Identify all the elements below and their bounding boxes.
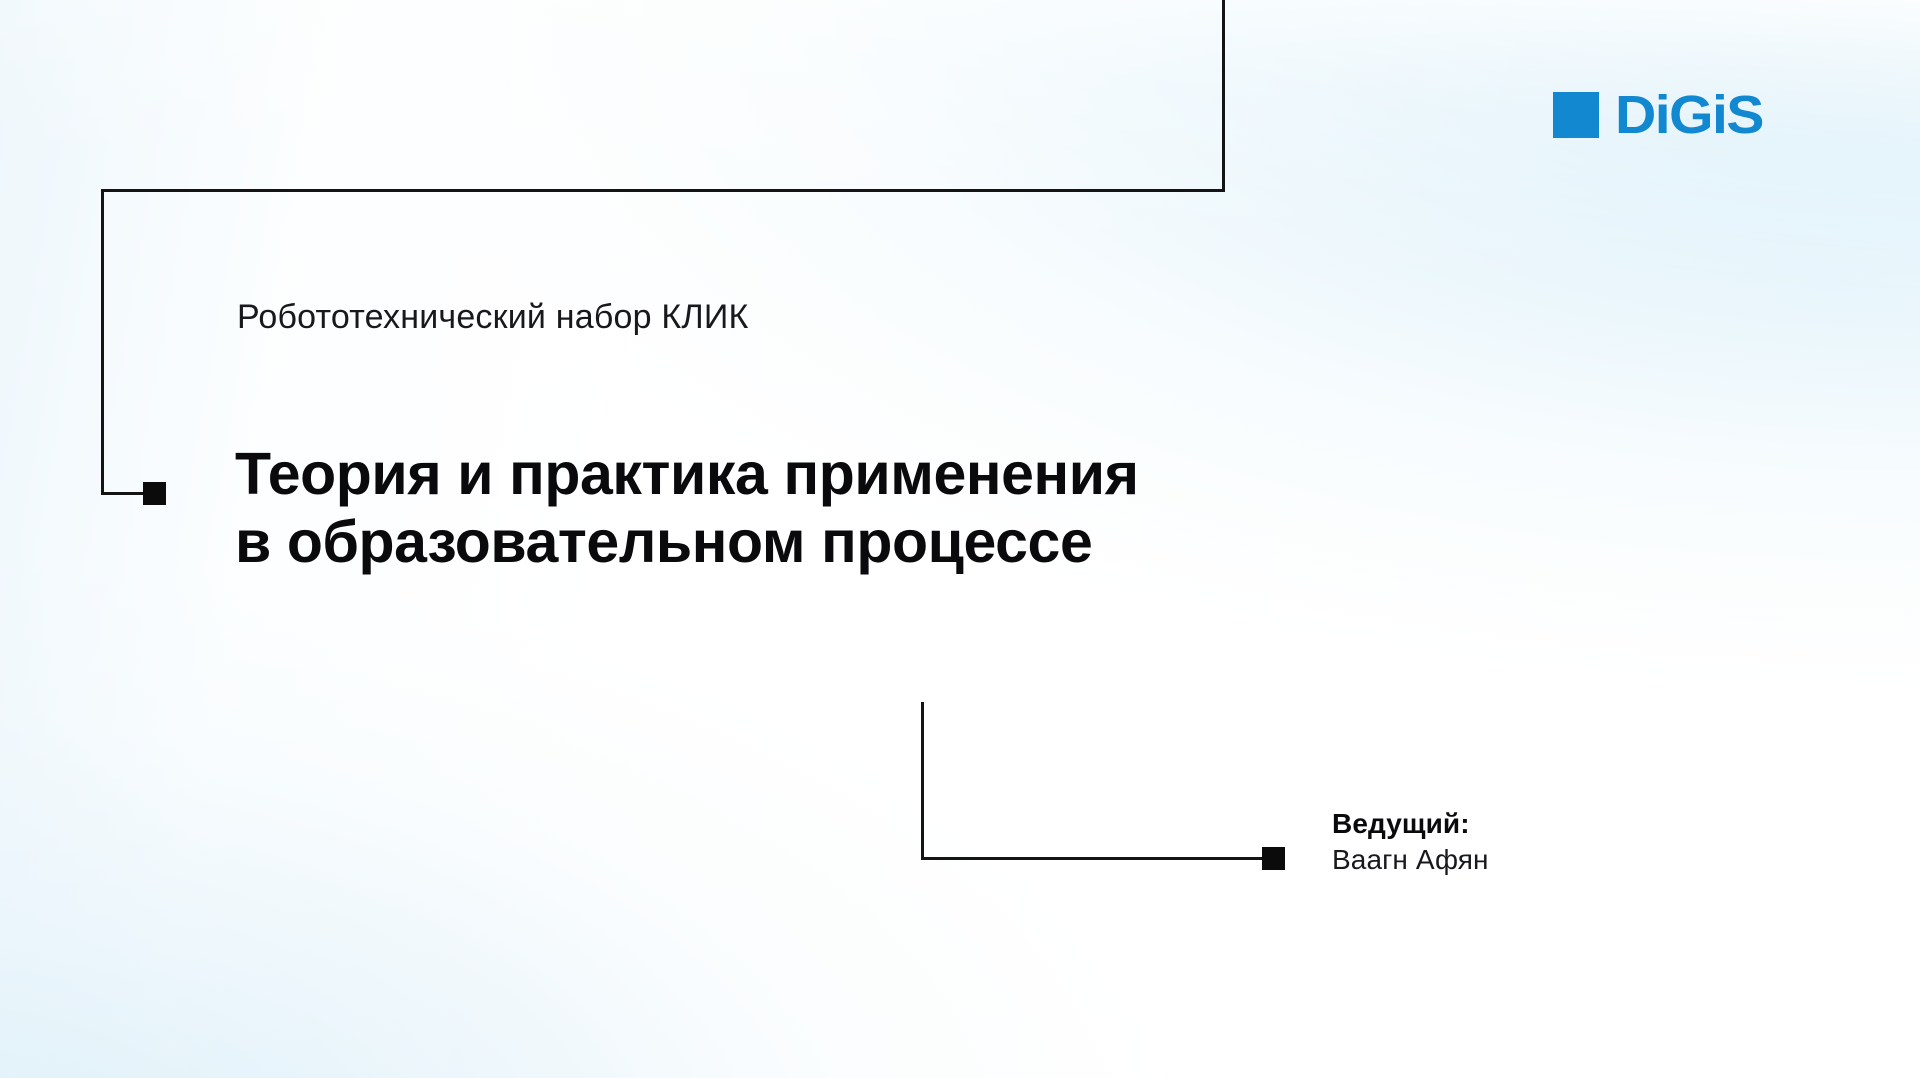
presenter-block: Ведущий: Ваагн Афян [1332,806,1489,878]
logo-square-icon [1553,92,1599,138]
slide-eyebrow: Робототехнический набор КЛИК [237,298,749,337]
digis-logo: DiGiS [1553,92,1755,138]
title-slide: DiGiS Робототехнический набор КЛИК Теори… [0,0,1920,1078]
decor-line-bottom-vertical [921,702,924,860]
decor-line-top-horizontal [101,189,1225,192]
presenter-label: Ведущий: [1332,806,1489,842]
decor-line-top-vertical [1222,0,1225,192]
decor-line-left-vertical [101,189,104,495]
logo-wordmark: DiGiS [1615,92,1763,138]
decor-square-left [143,482,166,505]
presenter-name: Ваагн Афян [1332,842,1489,878]
decor-square-bottom [1262,847,1285,870]
page-title: Теория и практика применения в образоват… [235,440,1139,577]
decor-line-bottom-horizontal [921,857,1266,860]
